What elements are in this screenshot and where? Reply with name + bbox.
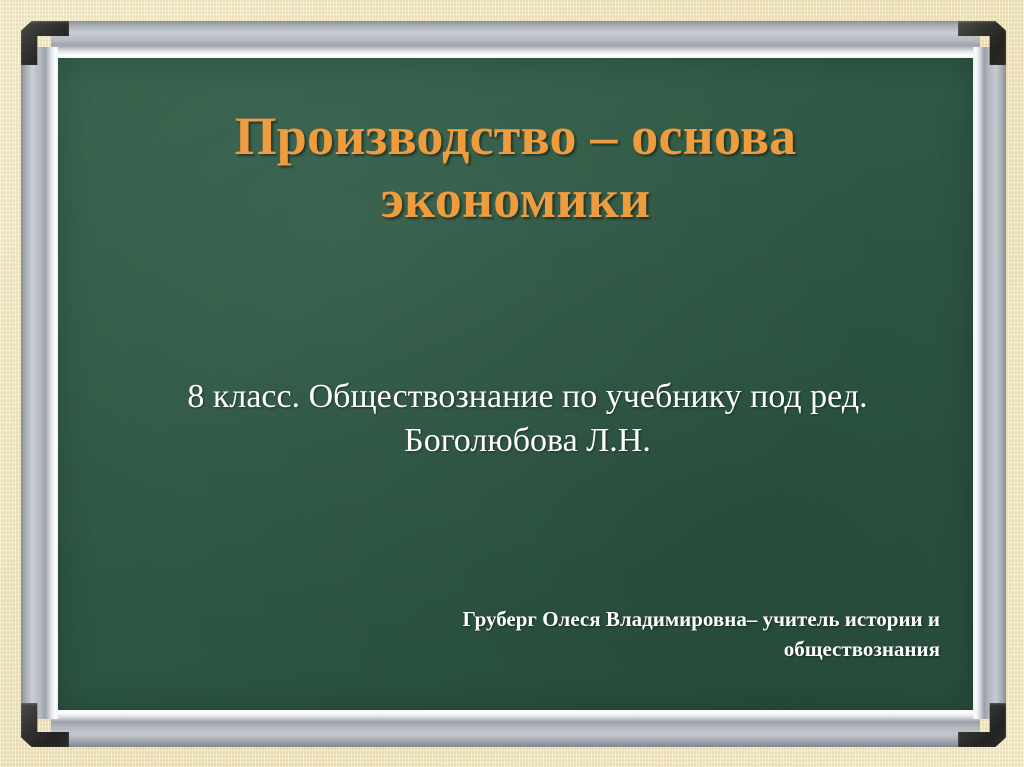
slide-title: Производство – основа экономики bbox=[113, 105, 918, 230]
author-block: Груберг Олеся Владимировна– учитель исто… bbox=[177, 605, 940, 665]
frame-rail-bottom bbox=[51, 710, 980, 747]
frame-rail-right bbox=[973, 47, 1006, 719]
author-line-1: Груберг Олеся Владимировна– учитель исто… bbox=[177, 605, 940, 635]
frame-rail-top bbox=[51, 21, 980, 58]
chalkboard: Производство – основа экономики 8 класс.… bbox=[21, 21, 1006, 747]
slide-subtitle: 8 класс. Обществознание по учебнику под … bbox=[141, 375, 914, 462]
title-slide: Производство – основа экономики 8 класс.… bbox=[0, 0, 1024, 767]
frame-rail-left bbox=[21, 47, 58, 719]
slide-content: Производство – основа экономики 8 класс.… bbox=[57, 57, 974, 711]
author-line-2: обществознания bbox=[177, 635, 940, 665]
